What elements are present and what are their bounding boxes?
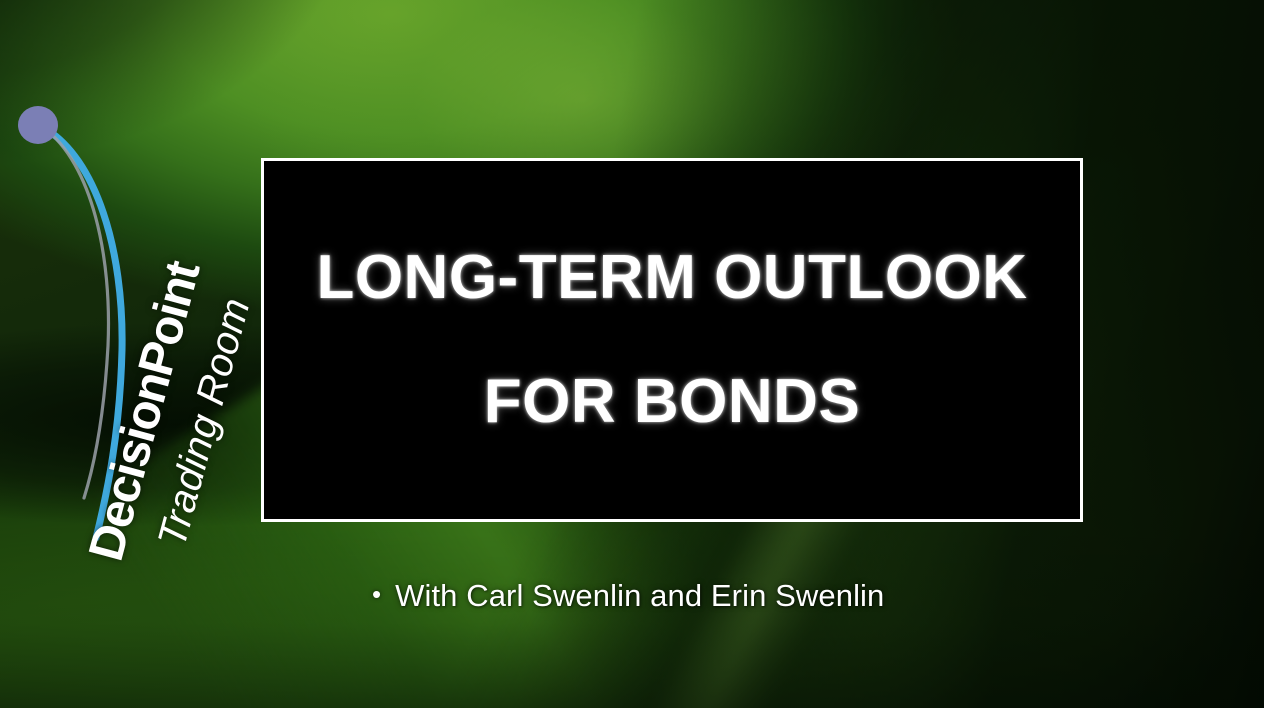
presentation-slide: DecisionPoint Trading Room LONG-TERM OUT… — [0, 0, 1264, 708]
title-box: LONG-TERM OUTLOOK FOR BONDS — [261, 158, 1083, 522]
page-title-line-2: FOR BONDS — [484, 371, 861, 433]
bullet-icon: • — [372, 581, 381, 607]
page-title-line-1: LONG-TERM OUTLOOK — [316, 247, 1027, 309]
subtitle-text: With Carl Swenlin and Erin Swenlin — [395, 578, 884, 614]
subtitle-bullet-item: • With Carl Swenlin and Erin Swenlin — [372, 578, 1072, 614]
